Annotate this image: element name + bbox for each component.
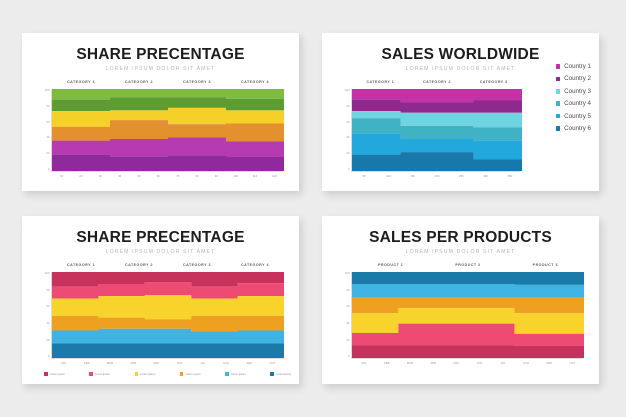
column-header: PRODUCT 2 xyxy=(429,263,506,267)
page-title: SALES WORLDWIDE xyxy=(322,46,599,64)
legend-swatch-icon xyxy=(44,372,48,376)
card-share-percentage-warm: SHARE PRECENTAGE LOREM IPSUM DOLOR SIT A… xyxy=(22,216,299,384)
x-axis-tick: JUN xyxy=(468,361,491,365)
column-header: CATEGORY 3 xyxy=(168,80,226,84)
x-axis-tick: SEP xyxy=(238,361,261,365)
plot-area xyxy=(352,272,584,358)
x-axis-tick: 110 xyxy=(245,174,264,178)
legend-label: Lorem ipsum xyxy=(231,373,246,376)
x-axis-tick: 120 xyxy=(265,174,284,178)
x-axis-tick: 20 xyxy=(71,174,90,178)
x-axis-line xyxy=(51,171,283,172)
x-axis-tick: 100 xyxy=(226,174,245,178)
legend-swatch-icon xyxy=(556,101,561,106)
plot-area xyxy=(352,89,522,171)
legend-swatch-icon xyxy=(225,372,229,376)
x-axis-tick: AUG xyxy=(514,361,537,365)
x-axis-tick: FEB xyxy=(375,361,398,365)
legend-label: Country 2 xyxy=(564,75,591,82)
x-axis-tick: APR xyxy=(422,361,445,365)
legend-item[interactable]: Lorem ipsum xyxy=(270,372,291,376)
x-axis-tick: 200 xyxy=(425,174,449,178)
area-band xyxy=(52,329,284,344)
x-axis-tick: MAY xyxy=(145,361,168,365)
page-subtitle: LOREM IPSUM DOLOR SIT AMET xyxy=(322,249,599,255)
legend-label: Country 6 xyxy=(564,125,591,132)
legend-swatch-icon xyxy=(135,372,139,376)
y-axis: 100806040200 xyxy=(338,272,351,358)
legend-swatch-icon xyxy=(270,372,274,376)
x-axis-tick: MAY xyxy=(445,361,468,365)
area-band xyxy=(52,295,284,319)
legend-swatch-icon xyxy=(89,372,93,376)
legend-label: Country 5 xyxy=(564,113,591,120)
x-axis-tick: JAN xyxy=(52,361,75,365)
x-axis-tick: SEP xyxy=(538,361,561,365)
legend-item[interactable]: Country 1 xyxy=(556,63,591,70)
x-axis-tick: JAN xyxy=(352,361,375,365)
legend-label: Lorem ipsum xyxy=(140,373,155,376)
x-axis-tick: 60 xyxy=(149,174,168,178)
card-share-percentage-green: SHARE PRECENTAGE LOREM IPSUM DOLOR SIT A… xyxy=(22,33,299,191)
x-axis: JANFEBMARAPRMAYJUNJULAUGSEPOCT xyxy=(52,361,284,365)
legend-label: Country 4 xyxy=(564,100,591,107)
x-axis-tick: APR xyxy=(122,361,145,365)
page-title: SHARE PRECENTAGE xyxy=(22,229,299,247)
column-header: PRODUCT 1 xyxy=(352,263,429,267)
card-sales-worldwide: SALES WORLDWIDE LOREM IPSUM DOLOR SIT AM… xyxy=(322,33,599,191)
x-axis-tick: MAR xyxy=(98,361,121,365)
legend-swatch-icon xyxy=(556,126,561,131)
legend-item[interactable]: Country 3 xyxy=(556,88,591,95)
x-axis-tick: 40 xyxy=(110,174,129,178)
slide-board: SHARE PRECENTAGE LOREM IPSUM DOLOR SIT A… xyxy=(0,0,626,417)
column-header: PRODUCT 3 xyxy=(507,263,584,267)
legend-item[interactable]: Country 6 xyxy=(556,125,591,132)
x-axis-line xyxy=(351,171,521,172)
x-axis-tick: 100 xyxy=(376,174,400,178)
x-axis-tick: 90 xyxy=(207,174,226,178)
legend-item[interactable]: Lorem ipsum xyxy=(44,372,65,376)
x-axis-tick: JUL xyxy=(491,361,514,365)
legend-label: Country 1 xyxy=(564,63,591,70)
x-axis-line xyxy=(51,358,283,359)
x-axis-tick: OCT xyxy=(561,361,584,365)
column-header: CATEGORY 1 xyxy=(52,80,110,84)
legend-item[interactable]: Country 4 xyxy=(556,100,591,107)
legend-item[interactable]: Lorem ipsum xyxy=(180,372,201,376)
x-axis: JANFEBMARAPRMAYJUNJULAUGSEPOCT xyxy=(352,361,584,365)
x-axis-line xyxy=(351,358,583,359)
plot-area xyxy=(52,272,284,358)
x-axis-tick: 10 xyxy=(52,174,71,178)
x-axis-tick: JUL xyxy=(191,361,214,365)
x-axis: 102030405060708090100110120 xyxy=(52,174,284,178)
legend-label: Lorem ipsum xyxy=(95,373,110,376)
x-axis-tick: 150 xyxy=(401,174,425,178)
y-axis: 100806040200 xyxy=(338,89,351,171)
x-axis-tick: AUG xyxy=(214,361,237,365)
area-band xyxy=(352,272,584,285)
page-title: SHARE PRECENTAGE xyxy=(22,46,299,64)
x-axis-tick: 300 xyxy=(473,174,497,178)
x-axis-tick: FEB xyxy=(75,361,98,365)
legend-label: Lorem ipsum xyxy=(276,373,291,376)
legend-label: Lorem ipsum xyxy=(185,373,200,376)
legend-label: Country 3 xyxy=(564,88,591,95)
x-axis: 50100150200250300350 xyxy=(352,174,522,178)
legend-item[interactable]: Lorem ipsum xyxy=(225,372,246,376)
x-axis-tick: 350 xyxy=(498,174,522,178)
legend-item[interactable]: Country 5 xyxy=(556,113,591,120)
card-sales-per-products: SALES PER PRODUCTS LOREM IPSUM DOLOR SIT… xyxy=(322,216,599,384)
page-subtitle: LOREM IPSUM DOLOR SIT AMET xyxy=(22,249,299,255)
legend-swatch-icon xyxy=(556,64,561,69)
page-subtitle: LOREM IPSUM DOLOR SIT AMET xyxy=(22,66,299,72)
legend-swatch-icon xyxy=(556,114,561,119)
legend-countries: Country 1Country 2Country 3Country 4Coun… xyxy=(556,63,591,132)
legend-item[interactable]: Country 2 xyxy=(556,75,591,82)
column-headers: PRODUCT 1PRODUCT 2PRODUCT 3 xyxy=(352,263,584,267)
column-header: CATEGORY 2 xyxy=(110,80,168,84)
legend-item[interactable]: Lorem ipsum xyxy=(135,372,156,376)
x-axis-tick: 80 xyxy=(187,174,206,178)
x-axis-tick: 50 xyxy=(352,174,376,178)
legend-swatch-icon xyxy=(556,77,561,82)
column-header: CATEGORY 2 xyxy=(110,263,168,267)
area-band xyxy=(52,343,284,358)
column-header: CATEGORY 1 xyxy=(352,80,409,84)
legend-item[interactable]: Lorem ipsum xyxy=(89,372,110,376)
column-headers: CATEGORY 1CATEGORY 2CATEGORY 3CATEGORY 4 xyxy=(52,263,284,267)
column-header: CATEGORY 2 xyxy=(409,80,466,84)
x-axis-tick: 250 xyxy=(449,174,473,178)
legend-swatch-icon xyxy=(180,372,184,376)
column-header: CATEGORY 3 xyxy=(168,263,226,267)
column-header: CATEGORY 1 xyxy=(52,263,110,267)
page-title: SALES PER PRODUCTS xyxy=(322,229,599,247)
x-axis-tick: OCT xyxy=(261,361,284,365)
legend-swatch-icon xyxy=(556,89,561,94)
x-axis-tick: 70 xyxy=(168,174,187,178)
legend-series: Lorem ipsumLorem ipsumLorem ipsumLorem i… xyxy=(44,372,291,376)
x-axis-tick: 30 xyxy=(91,174,110,178)
x-axis-tick: JUN xyxy=(168,361,191,365)
area-band xyxy=(352,284,584,298)
legend-label: Lorem ipsum xyxy=(50,373,65,376)
x-axis-tick: MAR xyxy=(398,361,421,365)
y-axis: 100806040200 xyxy=(38,89,51,171)
y-axis: 100806040200 xyxy=(38,272,51,358)
plot-area xyxy=(52,89,284,171)
column-header: CATEGORY 3 xyxy=(465,80,522,84)
column-header: CATEGORY 4 xyxy=(226,263,284,267)
column-header: CATEGORY 4 xyxy=(226,80,284,84)
column-headers: CATEGORY 1CATEGORY 2CATEGORY 3 xyxy=(352,80,522,84)
area-band xyxy=(52,155,284,171)
area-band xyxy=(352,345,584,358)
column-headers: CATEGORY 1CATEGORY 2CATEGORY 3CATEGORY 4 xyxy=(52,80,284,84)
x-axis-tick: 50 xyxy=(129,174,148,178)
